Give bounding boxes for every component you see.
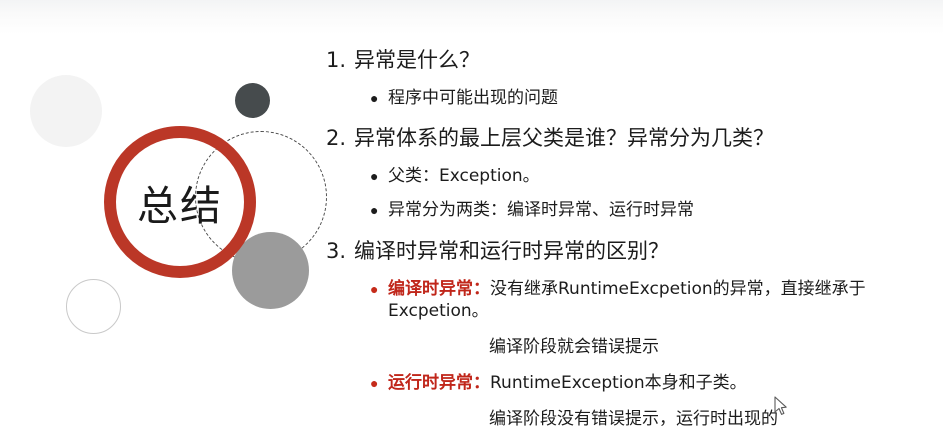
question-number: 2. [326, 126, 354, 150]
answer-item-checked-exception: ● 编译时异常：没有继承RuntimeExcpetion的异常，直接继承于Exc… [326, 278, 941, 322]
answer-continuation-text: 编译阶段没有错误提示，运行时出现的 [489, 409, 778, 429]
bullet-icon: ● [370, 169, 388, 183]
answer-text: 编译时异常：没有继承RuntimeExcpetion的异常，直接继承于Excpe… [388, 278, 941, 322]
question-text: 异常是什么？ [354, 46, 480, 74]
answer-item: ● 程序中可能出现的问题 [326, 87, 941, 109]
decorative-circle-light-gray [30, 75, 102, 147]
answer-body: RuntimeException本身和子类。 [490, 373, 747, 393]
decorative-circle-dark [235, 83, 270, 118]
mouse-pointer-icon [774, 396, 788, 416]
answer-continuation-row: 编译阶段没有错误提示，运行时出现的 [326, 408, 941, 430]
question-item: 3. 编译时异常和运行时异常的区别？ [326, 237, 941, 265]
answer-continuation-row: 编译阶段就会错误提示 [326, 336, 941, 358]
answer-lead-label: 编译时异常： [388, 279, 490, 299]
answer-item: ● 父类：Exception。 [326, 165, 941, 187]
slide-canvas: 总结 1. 异常是什么？ ● 程序中可能出现的问题 2. 异常体系的最上层父类是… [0, 0, 943, 443]
answer-text: 父类：Exception。 [388, 165, 540, 187]
bullet-icon: ● [370, 203, 388, 217]
question-item: 1. 异常是什么？ [326, 46, 941, 74]
question-item: 2. 异常体系的最上层父类是谁？异常分为几类？ [326, 124, 941, 152]
question-number: 3. [326, 239, 354, 263]
slide-title: 总结 [104, 126, 256, 278]
answer-text: 程序中可能出现的问题 [388, 87, 558, 109]
answer-item-runtime-exception: ● 运行时异常：RuntimeException本身和子类。 [326, 372, 941, 394]
question-text: 编译时异常和运行时异常的区别？ [354, 237, 669, 265]
question-number: 1. [326, 48, 354, 72]
decorative-circle-outline [66, 279, 121, 334]
answer-text: 异常分为两类：编译时异常、运行时异常 [388, 199, 694, 221]
bullet-icon-red: ● [370, 376, 388, 390]
answer-item: ● 异常分为两类：编译时异常、运行时异常 [326, 199, 941, 221]
question-text: 异常体系的最上层父类是谁？异常分为几类？ [354, 124, 774, 152]
bullet-icon-red: ● [370, 282, 388, 296]
bullet-icon: ● [370, 91, 388, 105]
answer-continuation-text: 编译阶段就会错误提示 [489, 337, 659, 357]
question-list: 1. 异常是什么？ ● 程序中可能出现的问题 2. 异常体系的最上层父类是谁？异… [326, 46, 941, 430]
answer-text: 运行时异常：RuntimeException本身和子类。 [388, 372, 747, 394]
answer-lead-label: 运行时异常： [388, 373, 490, 393]
